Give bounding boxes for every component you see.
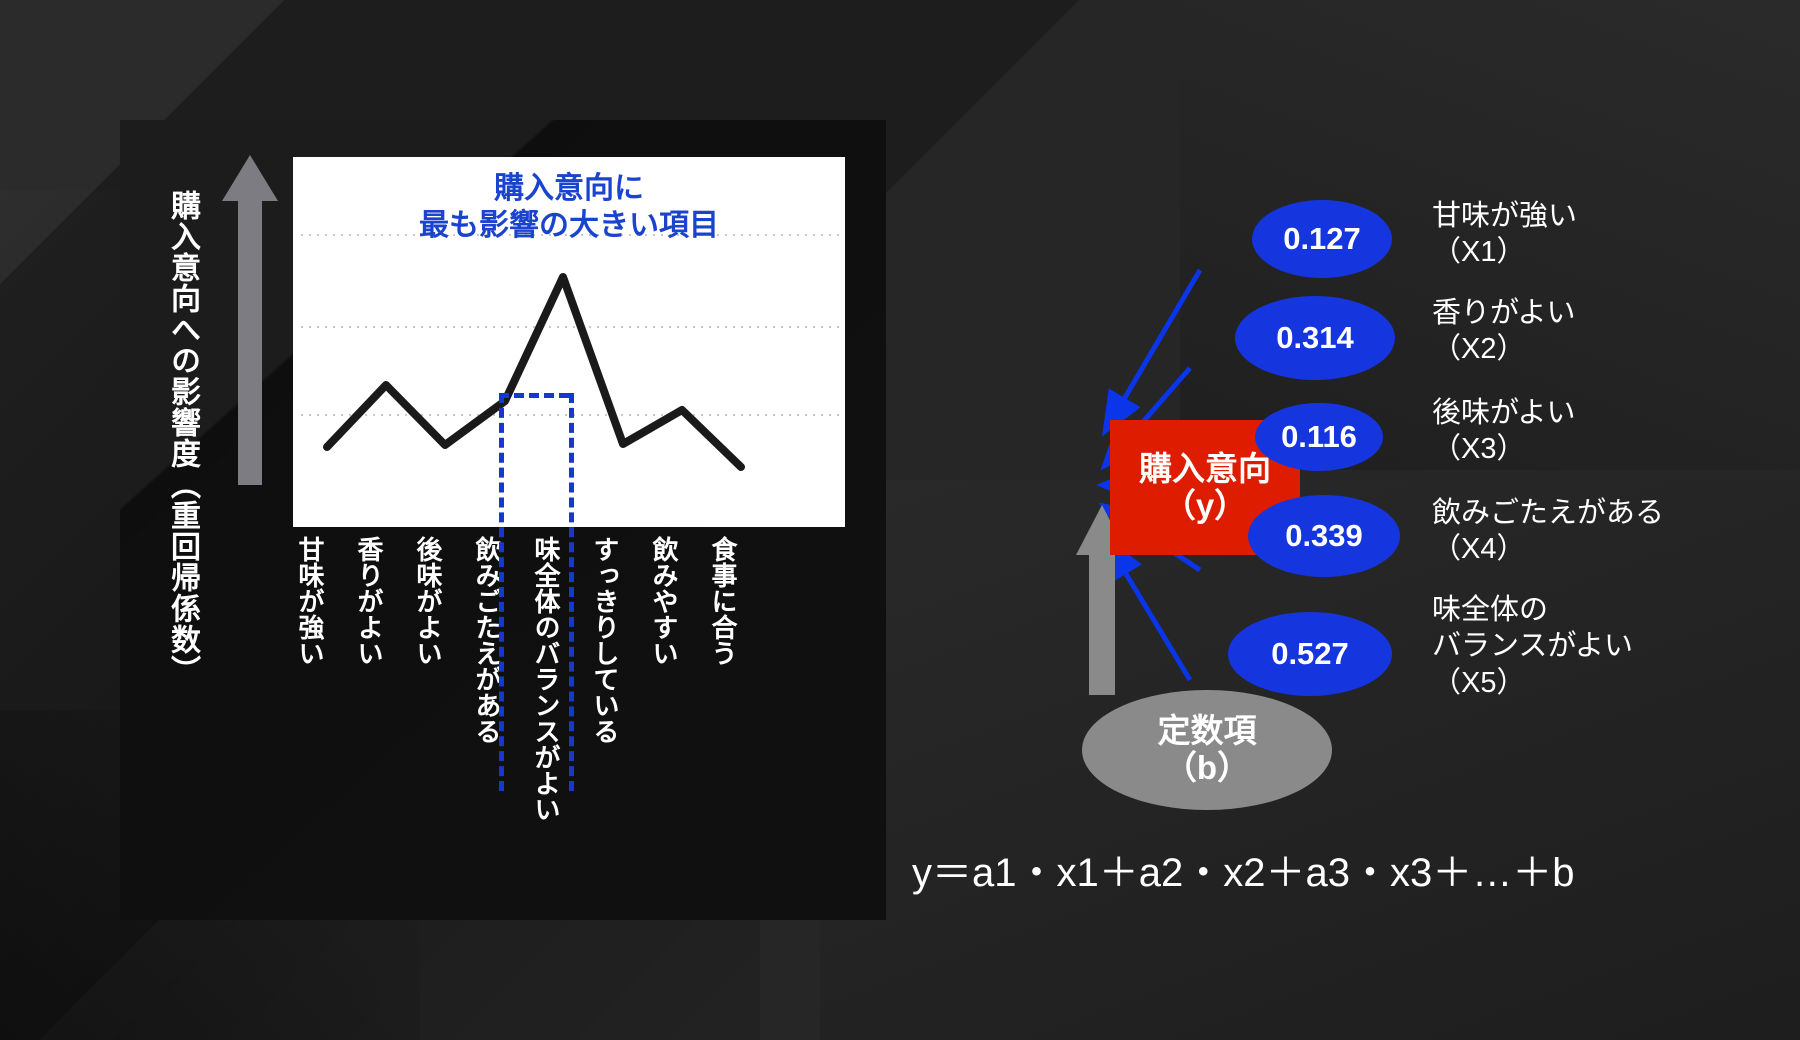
path-diagram (900, 150, 1800, 1040)
coefficient-node-x1[interactable]: 0.127 (1252, 200, 1392, 278)
x-axis-label-2: 後味がよい (415, 536, 441, 666)
x-axis-label-5: すっきりしている (592, 536, 618, 744)
variable-label-x4: 飲みごたえがある （X4） (1432, 495, 1664, 568)
y-axis-caption: 購入意向への影響度（重回帰係数） (150, 190, 198, 760)
constant-term-node[interactable]: 定数項 （b） (1082, 690, 1332, 810)
highlight-box-right (569, 393, 574, 791)
variable-label-x1: 甘味が強い （X1） (1432, 198, 1577, 271)
variable-label-x2: 香りがよい （X2） (1432, 295, 1576, 368)
chart-line-series (327, 277, 741, 467)
coefficient-node-x5[interactable]: 0.527 (1228, 612, 1392, 696)
arrow-x5 (1108, 544, 1190, 680)
path-diagram-svg (900, 150, 1800, 1040)
regression-formula: y＝a1・x1＋a2・x2＋a3・x3＋…＋b (912, 840, 1574, 898)
arrow-x1 (1107, 270, 1200, 428)
coefficient-node-x3[interactable]: 0.116 (1255, 403, 1383, 471)
constant-term-line1: 定数項 (1158, 713, 1257, 750)
x-axis-label-7: 食事に合う (710, 536, 736, 666)
variable-label-x5: 味全体の バランスがよい （X5） (1432, 592, 1633, 701)
target-node-line2: （y） (1163, 488, 1247, 525)
target-node-line1: 購入意向 (1139, 451, 1271, 488)
x-axis-label-4: 味全体のバランスがよい (533, 536, 559, 822)
coefficient-node-x4[interactable]: 0.339 (1248, 495, 1400, 577)
x-axis-label-1: 香りがよい (356, 536, 382, 666)
constant-term-line2: （b） (1164, 750, 1250, 787)
up-arrow-icon (222, 155, 278, 490)
x-axis-label-6: 飲みやすい (651, 536, 677, 666)
highlight-box-top (499, 393, 569, 398)
x-axis-label-3: 飲みごたえがある (474, 536, 500, 744)
coefficient-node-x2[interactable]: 0.314 (1235, 296, 1395, 380)
variable-label-x3: 後味がよい （X3） (1432, 395, 1576, 468)
x-axis-label-0: 甘味が強い (297, 536, 323, 666)
highlight-box-left (499, 393, 504, 791)
